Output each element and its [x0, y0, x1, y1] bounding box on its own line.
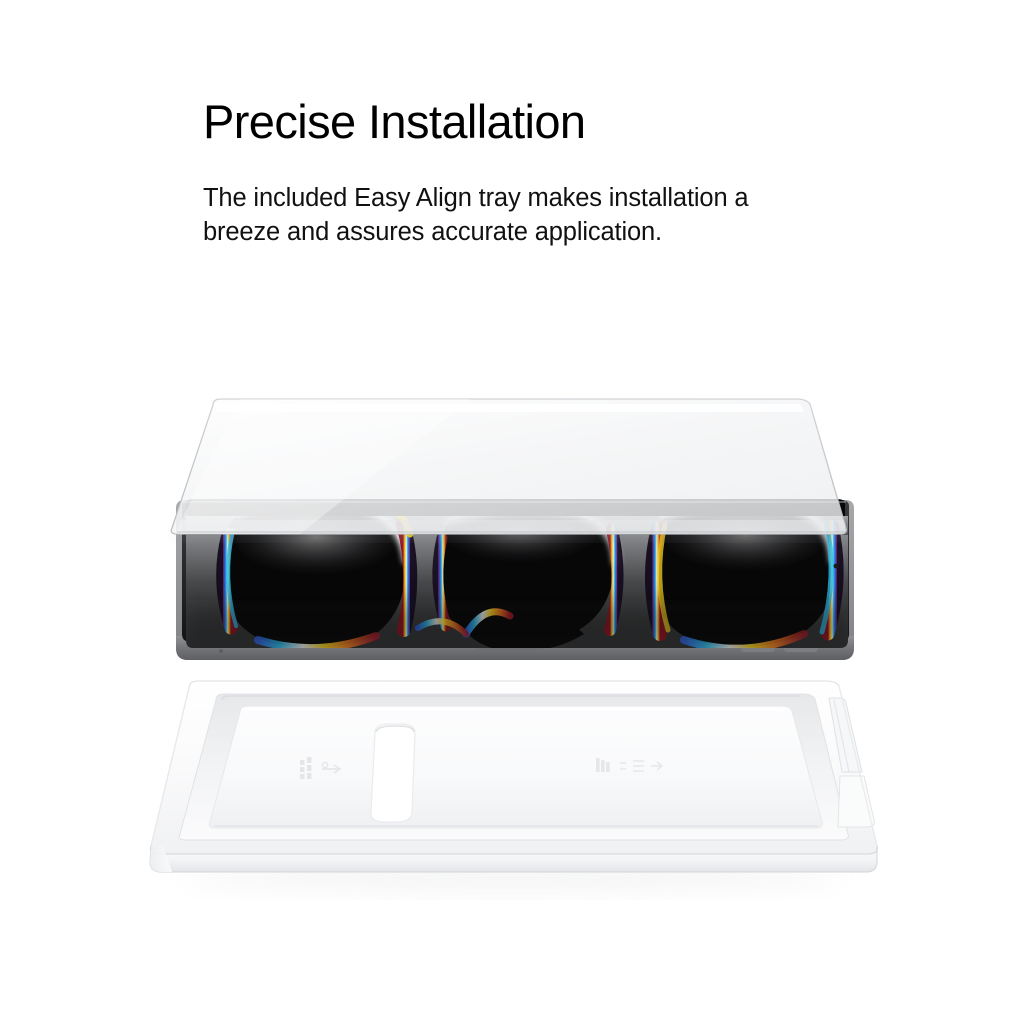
- tray-front-edge: [150, 846, 877, 872]
- camera-cutout-slot: [371, 724, 415, 822]
- volume-up-button[interactable]: [741, 645, 775, 652]
- screen-protector-glass[interactable]: [171, 399, 846, 540]
- wallpaper-liquid-metal: [180, 495, 855, 652]
- tablet-screen: [180, 495, 855, 652]
- feature-description: The included Easy Align tray makes insta…: [203, 148, 803, 250]
- tray-left-edge: [150, 846, 172, 872]
- page-title: Precise Installation: [203, 96, 823, 148]
- tablet-bezel: [182, 500, 849, 642]
- tray-alignment-tab: [829, 698, 874, 827]
- easy-align-tray[interactable]: [150, 681, 877, 890]
- wallpaper-blob-right: [652, 505, 837, 648]
- microphone-dot: [219, 649, 223, 653]
- right-emboss-logo: [596, 758, 662, 772]
- tablet-bottom-edge: [176, 636, 854, 660]
- glass-panel[interactable]: [171, 399, 846, 534]
- tablet-frame: [176, 500, 854, 660]
- product-feature-page: Precise Installation The included Easy A…: [0, 0, 1024, 1024]
- left-emboss-mark: [300, 757, 340, 779]
- tray-inner-platform: [209, 706, 822, 828]
- tray-outer-rim: [150, 681, 877, 854]
- tray-channel: [179, 694, 848, 840]
- wallpaper-blob-left: [222, 504, 411, 648]
- front-camera-icon: [834, 564, 839, 569]
- feature-text-block: Precise Installation The included Easy A…: [203, 96, 823, 250]
- tablet-device: [176, 495, 855, 660]
- wallpaper-blob-center: [418, 511, 618, 652]
- speaker-grille: [477, 644, 543, 652]
- volume-down-button[interactable]: [784, 645, 818, 652]
